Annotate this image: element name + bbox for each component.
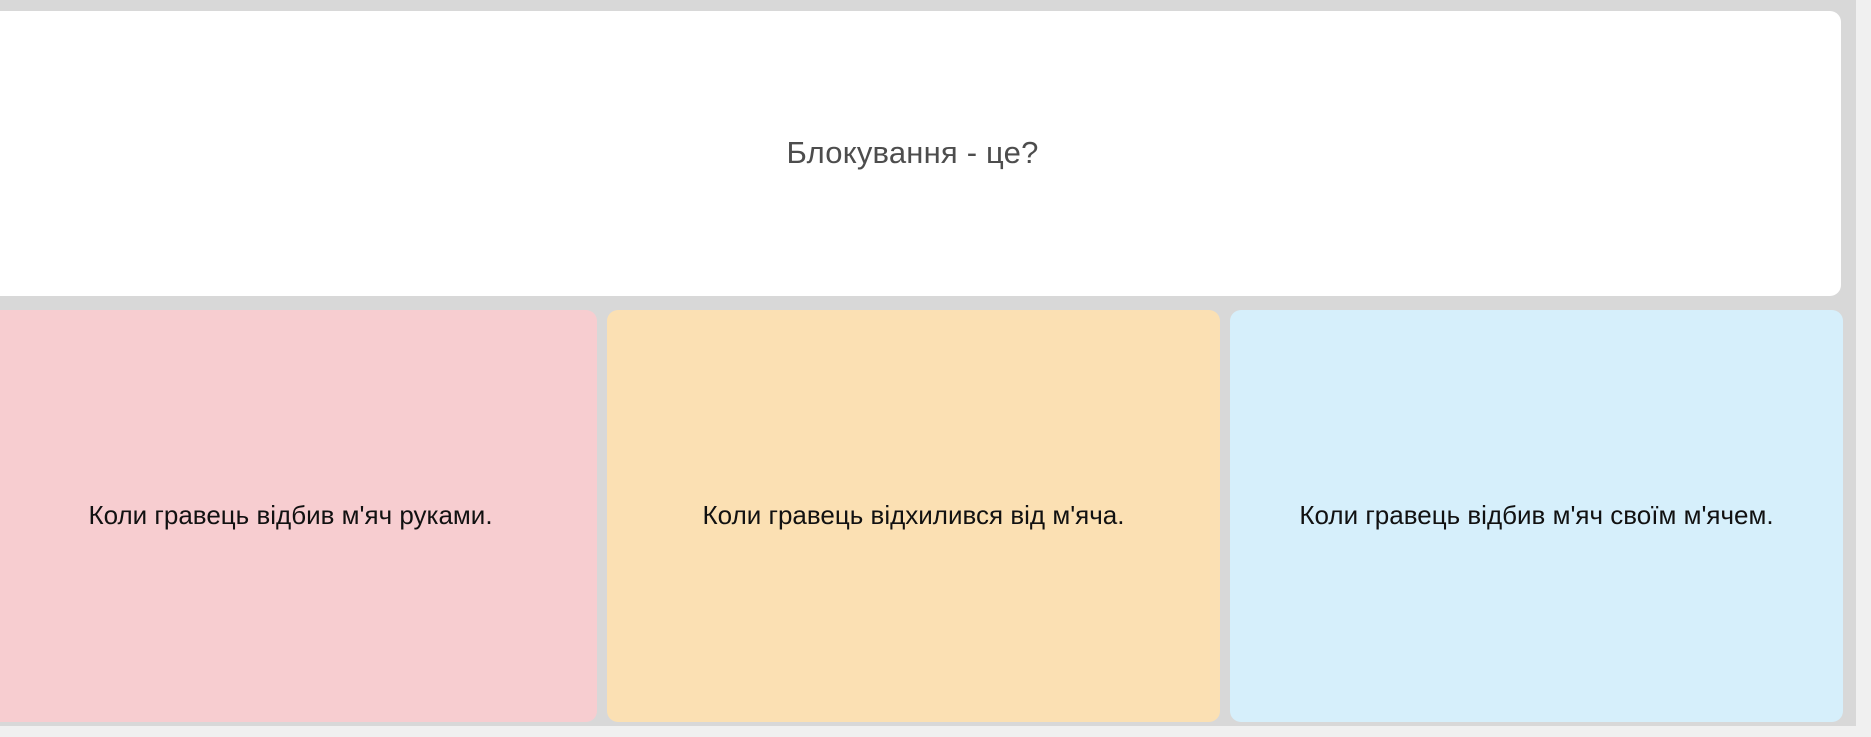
question-text: Блокування - це? <box>746 134 1078 173</box>
vertical-scrollbar[interactable] <box>1856 0 1871 726</box>
answer-option-3[interactable]: Коли гравець відбив м'яч своїм м'ячем. <box>1230 310 1843 722</box>
answer-option-2-label: Коли гравець відхилився від м'яча. <box>703 499 1125 533</box>
answer-option-1[interactable]: Коли гравець відбив м'яч руками. <box>0 310 597 722</box>
answer-option-1-label: Коли гравець відбив м'яч руками. <box>88 499 492 533</box>
quiz-app: Блокування - це? Коли гравець відбив м'я… <box>0 0 1871 737</box>
answer-option-2[interactable]: Коли гравець відхилився від м'яча. <box>607 310 1220 722</box>
quiz-viewport: Блокування - це? Коли гравець відбив м'я… <box>0 0 1856 726</box>
question-card: Блокування - це? <box>0 11 1841 296</box>
scrollbar-corner <box>1856 726 1871 737</box>
horizontal-scrollbar[interactable] <box>0 726 1871 737</box>
answer-option-3-label: Коли гравець відбив м'яч своїм м'ячем. <box>1299 499 1773 533</box>
answer-options-row: Коли гравець відбив м'яч руками. Коли гр… <box>0 310 1843 722</box>
